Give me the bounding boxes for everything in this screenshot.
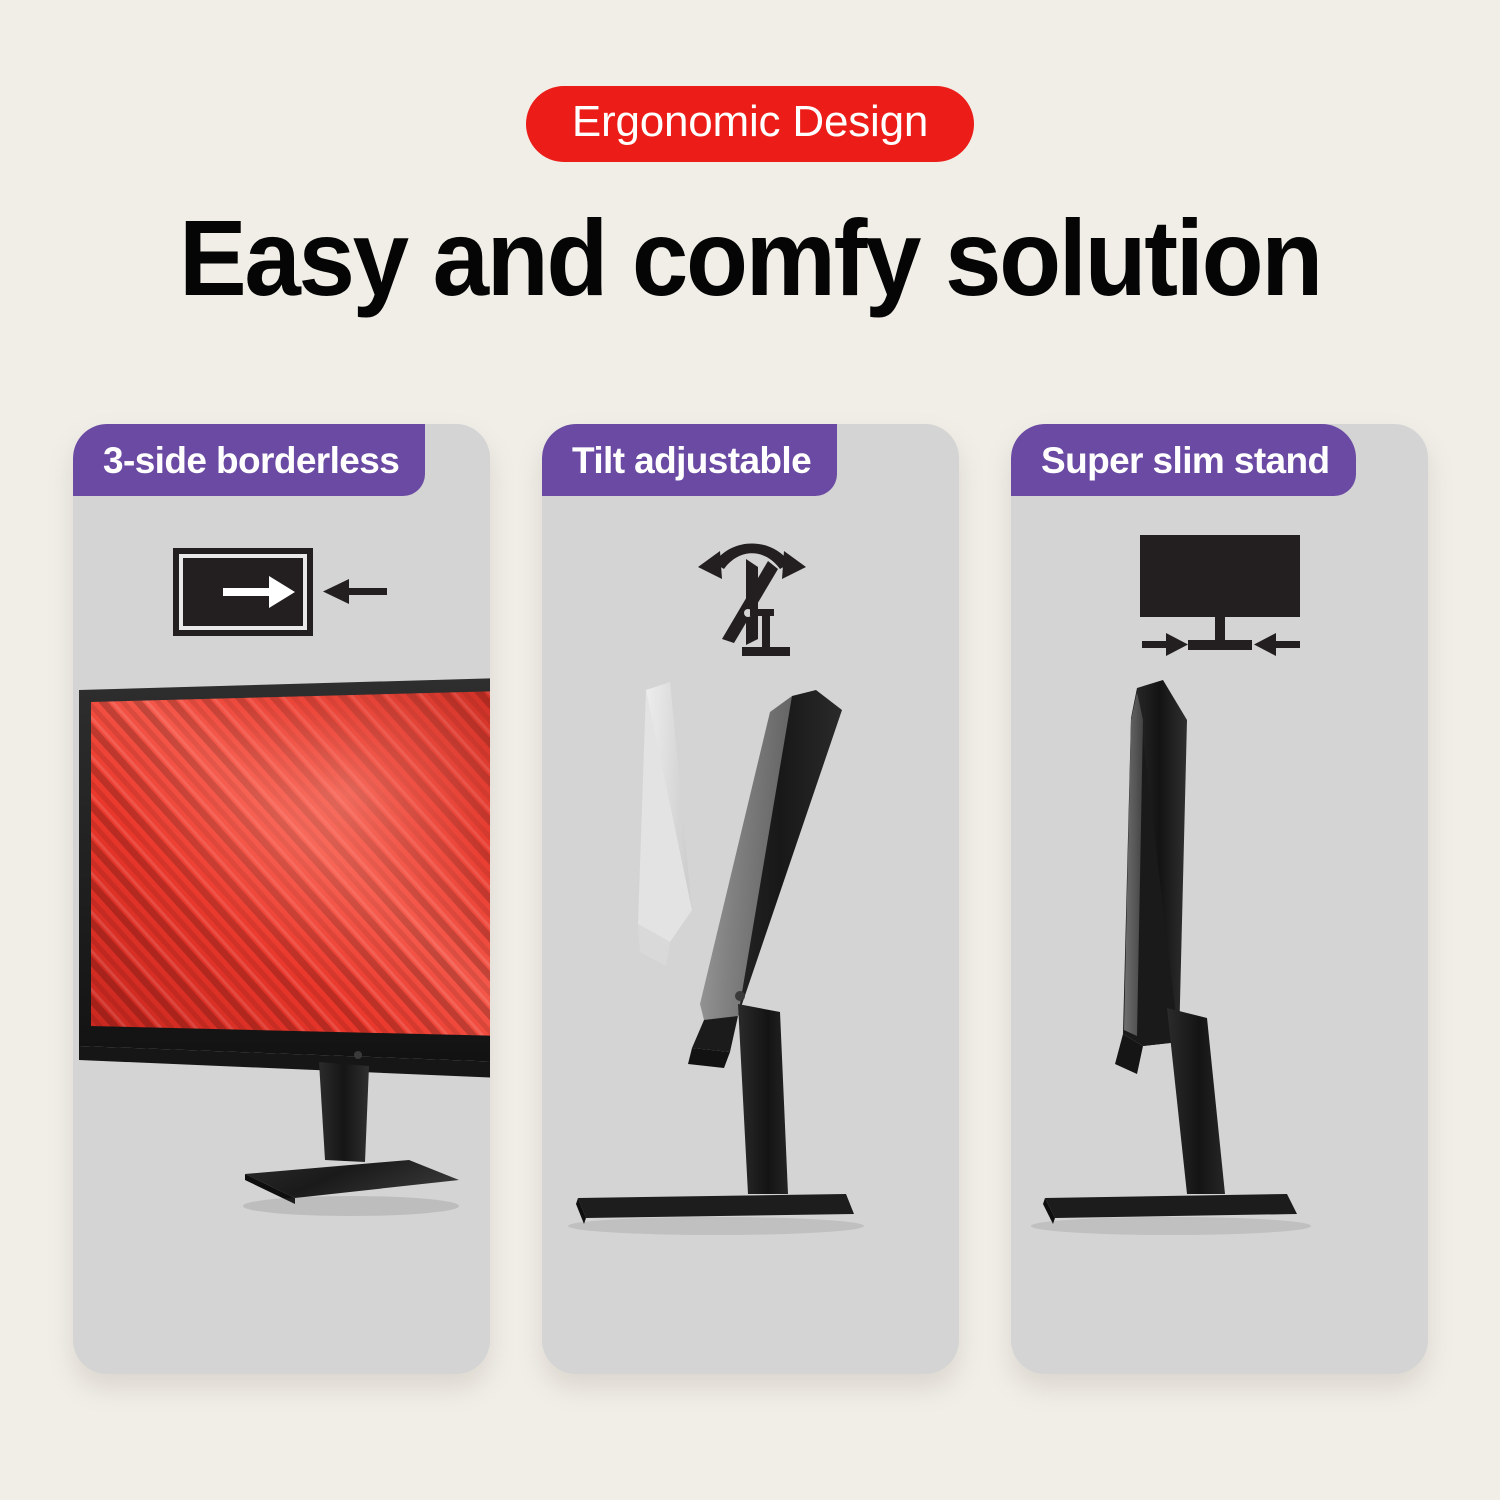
header: Ergonomic Design Easy and comfy solution: [0, 0, 1500, 312]
feature-label: 3-side borderless: [103, 442, 399, 479]
borderless-screen-icon: [171, 540, 391, 650]
tilt-adjust-icon: [686, 529, 816, 661]
product-photo-slim-stand: [1011, 674, 1428, 1374]
icon-area: [542, 520, 959, 670]
feature-label: Super slim stand: [1041, 442, 1330, 479]
icon-area: [73, 520, 490, 670]
feature-card-borderless[interactable]: 3-side borderless: [73, 424, 490, 1374]
status-badge: Ergonomic Design: [526, 86, 974, 162]
feature-card-tilt[interactable]: Tilt adjustable: [542, 424, 959, 1374]
page-title: Easy and comfy solution: [45, 204, 1455, 312]
feature-card-grid: 3-side borderless: [73, 424, 1427, 1374]
icon-area: [1011, 520, 1428, 670]
feature-banner-borderless: 3-side borderless: [73, 424, 425, 496]
feature-card-slim-stand[interactable]: Super slim stand: [1011, 424, 1428, 1374]
product-photo-tilt: [542, 674, 959, 1374]
slim-stand-icon: [1120, 525, 1320, 665]
feature-banner-tilt: Tilt adjustable: [542, 424, 837, 496]
feature-banner-slim-stand: Super slim stand: [1011, 424, 1356, 496]
product-photo-borderless: [73, 674, 490, 1374]
feature-label: Tilt adjustable: [572, 442, 811, 479]
